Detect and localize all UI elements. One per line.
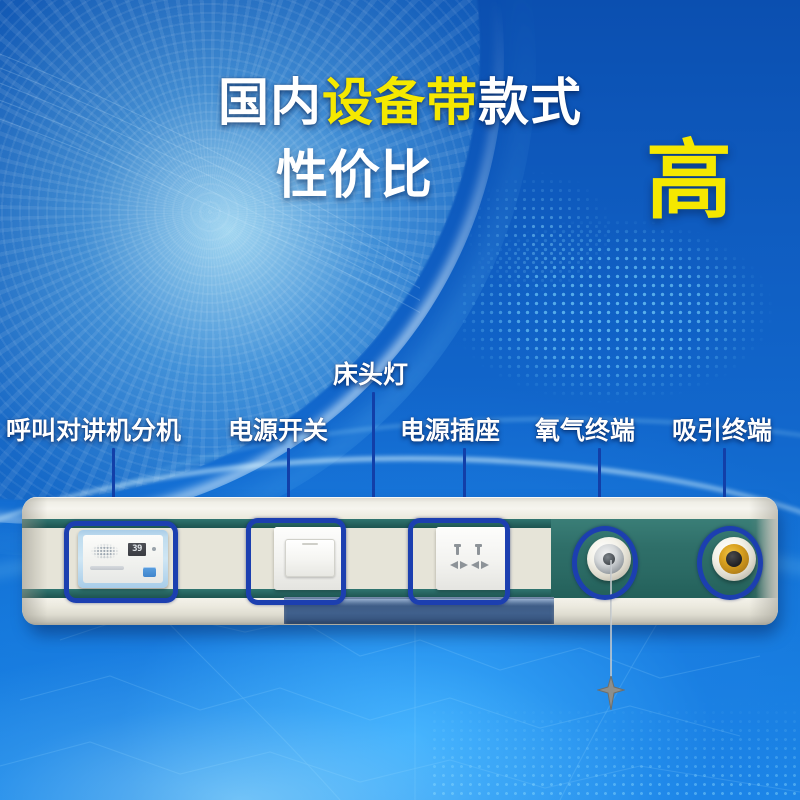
highlight-box-power-socket bbox=[408, 518, 510, 605]
callout-layer: 呼叫对讲机分机 电源开关 床头灯 电源插座 氧气终端 吸引终端 bbox=[0, 0, 800, 800]
cord-weight-cross-icon bbox=[597, 676, 625, 710]
callout-label-nurse-call-intercom: 呼叫对讲机分机 bbox=[6, 418, 181, 443]
highlight-circle-suction-terminal bbox=[697, 526, 763, 600]
callout-label-oxygen-terminal: 氧气终端 bbox=[535, 418, 635, 443]
callout-label-power-switch: 电源开关 bbox=[228, 418, 328, 443]
highlight-box-power-switch bbox=[246, 518, 346, 605]
highlight-circle-oxygen-terminal bbox=[572, 526, 638, 600]
callout-label-power-socket: 电源插座 bbox=[400, 418, 500, 443]
panel-left-end-cap bbox=[22, 497, 52, 625]
callout-label-bed-lamp: 床头灯 bbox=[333, 362, 408, 387]
callout-label-suction-terminal: 吸引终端 bbox=[672, 418, 772, 443]
promo-banner: 国内设备带款式 性价比 高 呼叫对讲机分机 电源开关 床头灯 电源插座 氧气终端… bbox=[0, 0, 800, 800]
highlight-box-intercom bbox=[64, 521, 178, 603]
